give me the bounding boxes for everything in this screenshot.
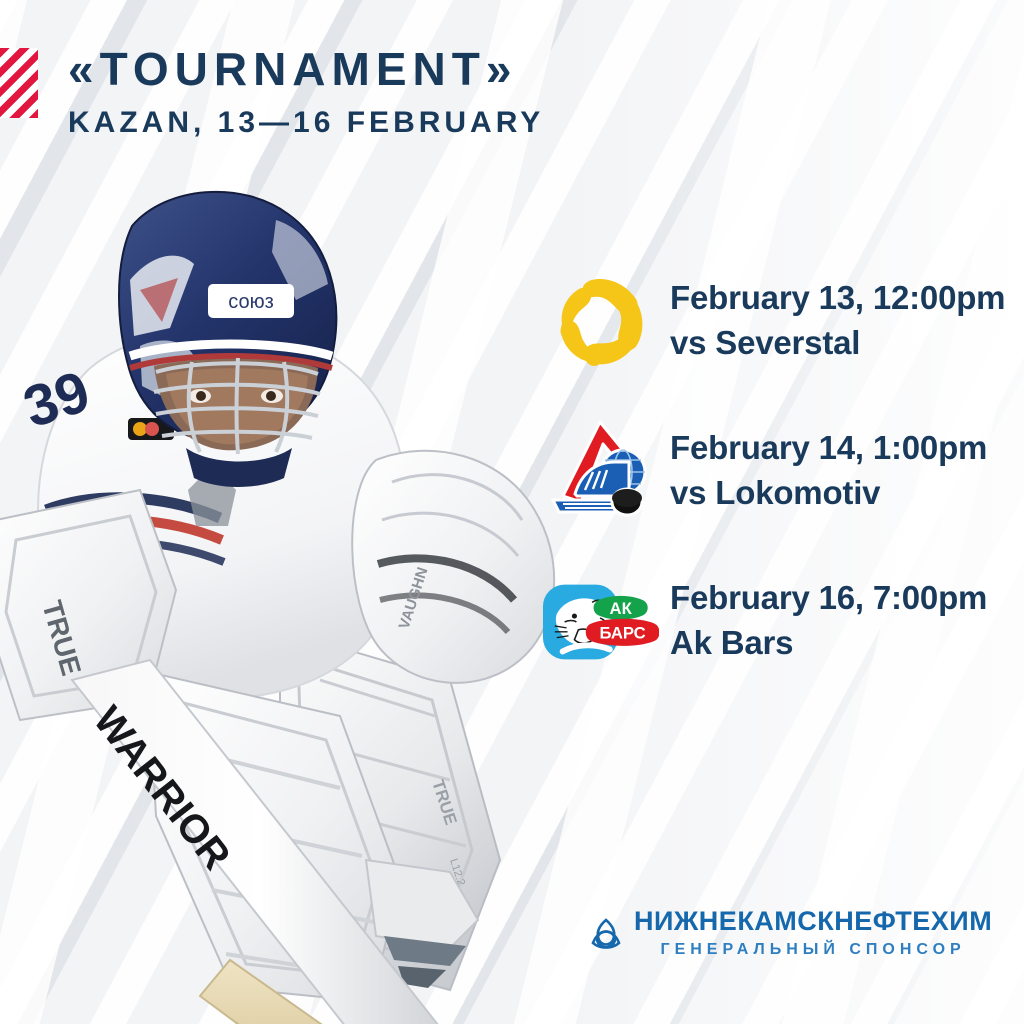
goalie-catcher-glove: VAUGHN [352,451,554,683]
schedule-datetime: February 16, 7:00pm [670,579,987,616]
schedule-row-text: February 14, 1:00pm vs Lokomotiv [670,426,987,515]
diagonal-stripes-badge-icon [0,48,38,118]
sponsor-name: НИЖНЕКАМСКНЕФТЕХИМ [634,908,992,935]
schedule-opponent: Ak Bars [670,621,987,666]
page-title: «TOURNAMENT» [68,46,544,92]
schedule-row[interactable]: February 13, 12:00pm vs Severstal [540,246,1010,396]
schedule-datetime: February 14, 1:00pm [670,429,987,466]
schedule-row-text: February 16, 7:00pm Ak Bars [670,576,987,665]
schedule-opponent: vs Severstal [670,321,1005,366]
page-subtitle: KAZAN, 13—16 FEBRUARY [68,108,544,138]
sponsor-text: НИЖНЕКАМСКНЕФТЕХИМ ГЕНЕРАЛЬНЫЙ СПОНСОР [634,908,992,958]
lokomotiv-logo-icon [540,411,660,531]
schedule-datetime: February 13, 12:00pm [670,279,1005,316]
goalie-photo: TRUE L12.2 39 75 [0,160,620,1024]
helmet-sponsor-text: союз [228,291,274,313]
schedule-list: February 13, 12:00pm vs Severstal [540,246,1010,696]
svg-text:БАРС: БАРС [600,624,646,643]
sponsor-role: ГЕНЕРАЛЬНЫЙ СПОНСОР [634,942,992,958]
schedule-row[interactable]: АК БАРС February 16, 7:00pm Ak Bars [540,546,1010,696]
svg-text:АК: АК [610,599,633,618]
schedule-row-text: February 13, 12:00pm vs Severstal [670,276,1005,365]
severstal-logo-icon [540,261,660,381]
sponsor-block: НИЖНЕКАМСКНЕФТЕХИМ ГЕНЕРАЛЬНЫЙ СПОНСОР [586,908,992,958]
ak-bars-logo-icon: АК БАРС [540,561,660,681]
header: «TOURNAMENT» KAZAN, 13—16 FEBRUARY [68,46,544,138]
tournament-poster: «TOURNAMENT» KAZAN, 13—16 FEBRUARY [0,0,1024,1024]
triquetra-logo-icon [586,913,626,953]
schedule-opponent: vs Lokomotiv [670,471,987,516]
schedule-row[interactable]: February 14, 1:00pm vs Lokomotiv [540,396,1010,546]
